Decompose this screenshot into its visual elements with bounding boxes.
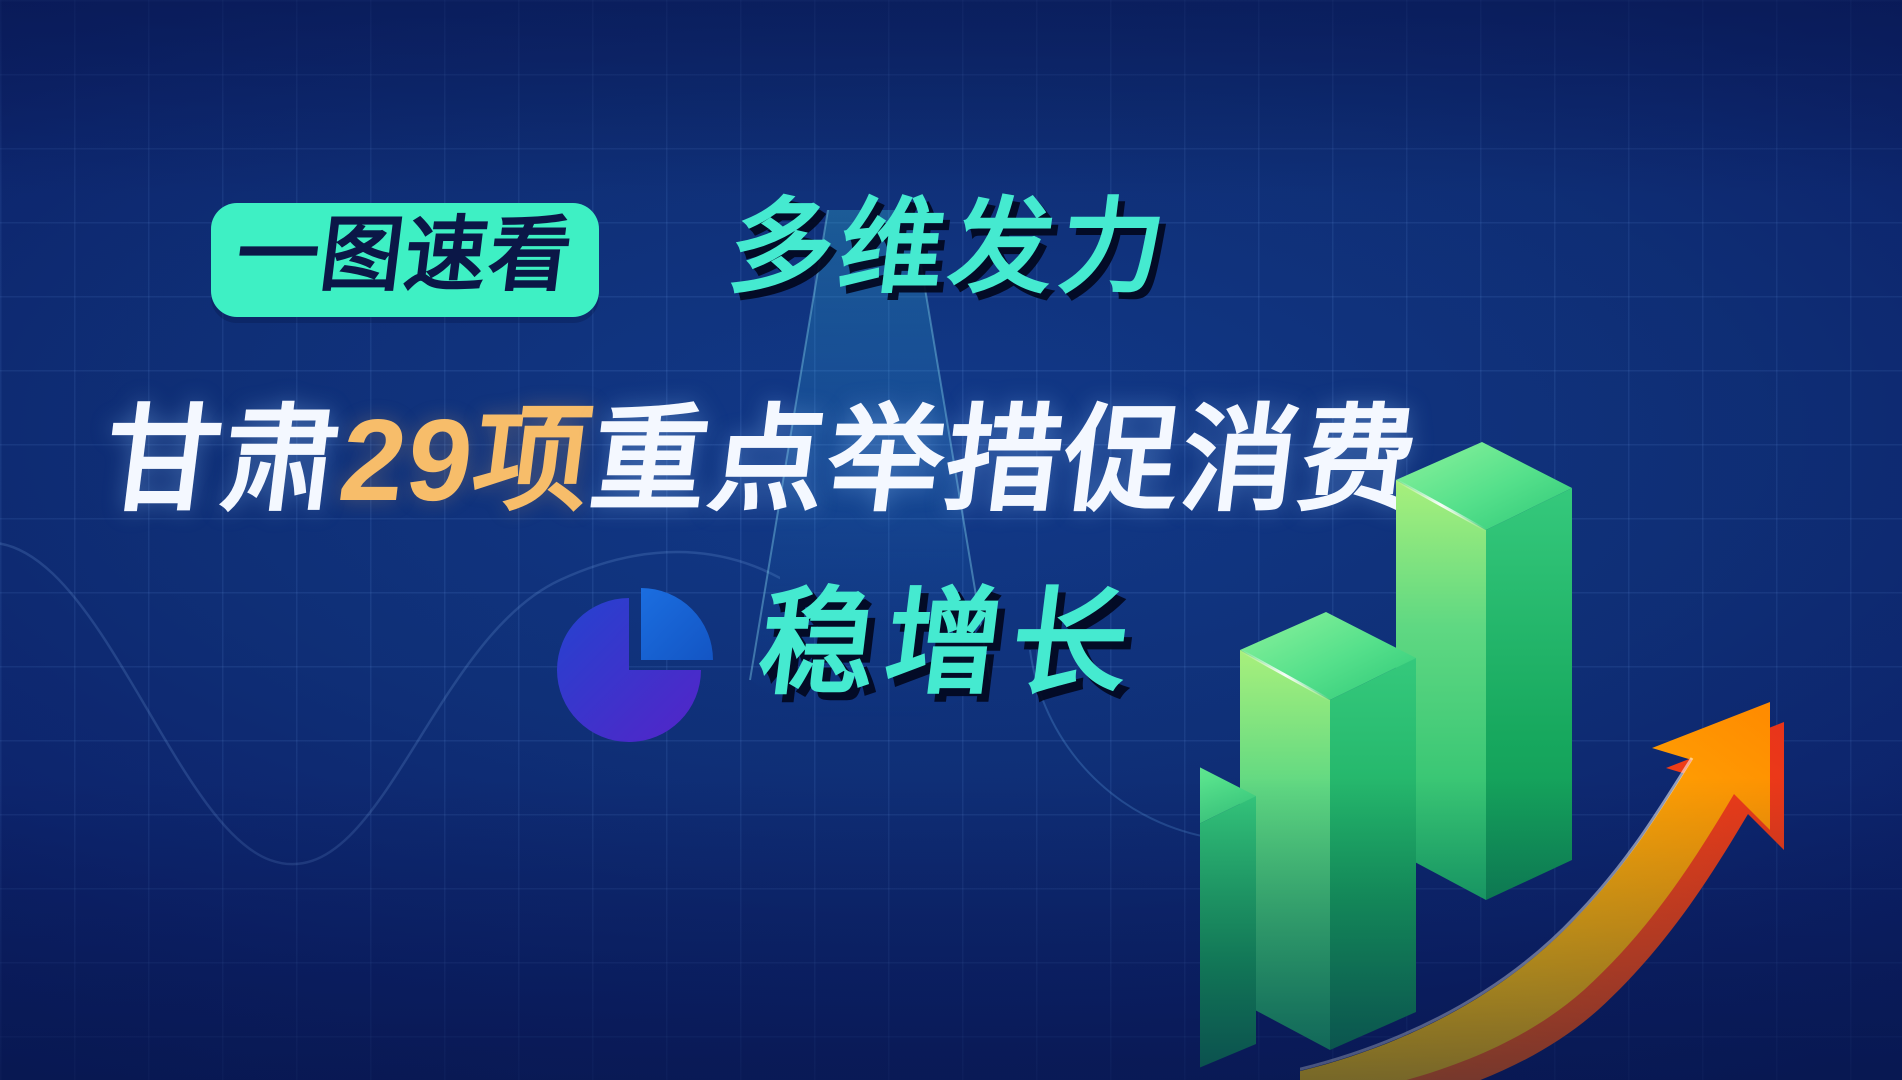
headline-line1-rest: 多维发力 (724, 196, 1177, 300)
headline-line3: 稳增长 (753, 585, 1145, 701)
growth-arrow-icon (1300, 690, 1902, 1080)
bar-1 (1200, 750, 1256, 1080)
badge-label: 一图速看 (232, 215, 578, 297)
headline-line2-number: 29项 (333, 395, 600, 525)
badge-quick-look: 一图速看 (211, 203, 599, 317)
poster-canvas: 一图速看 多维发力 甘肃29项重点举措促消费 稳增长 (0, 0, 1902, 1080)
headline-line2-prefix: 甘肃 (97, 395, 349, 525)
